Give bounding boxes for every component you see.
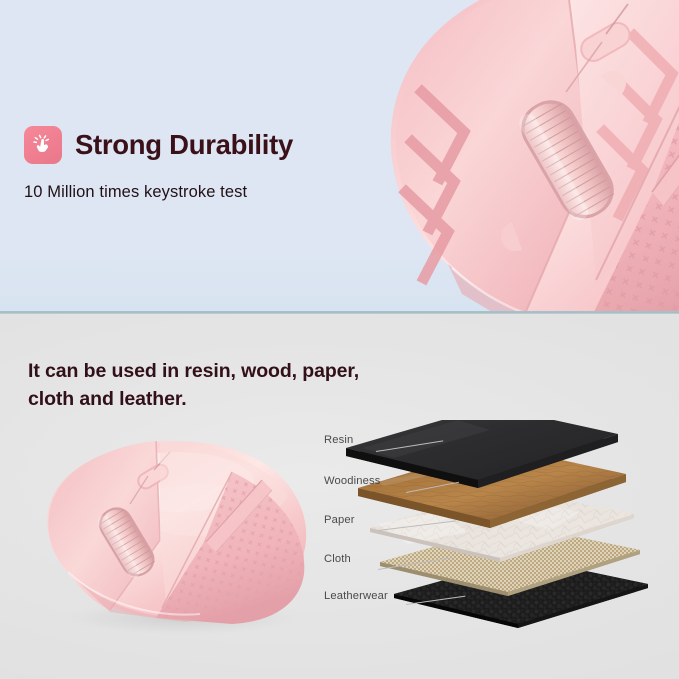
leader-line-paper (378, 520, 456, 530)
durability-subtitle: 10 Million times keystroke test (24, 183, 293, 202)
materials-headline: It can be used in resin, wood, paper, cl… (28, 358, 359, 413)
click-hand-icon (24, 126, 62, 164)
durability-heading-block: Strong Durability 10 Million times keyst… (24, 126, 293, 202)
page-title: Strong Durability (75, 131, 293, 159)
product-feature-image: Strong Durability 10 Million times keyst… (0, 0, 679, 679)
leader-line-woodiness (406, 482, 459, 493)
material-label-resin: Resin (324, 434, 353, 446)
leader-line-resin (376, 440, 443, 452)
material-label-paper: Paper (324, 514, 355, 526)
durability-panel: Strong Durability 10 Million times keyst… (0, 0, 679, 311)
materials-headline-line2: cloth and leather. (28, 386, 359, 414)
leader-line-leatherwear (406, 596, 466, 605)
material-label-leatherwear: Leatherwear (324, 590, 388, 602)
material-label-cloth: Cloth (324, 553, 351, 565)
leader-line-cloth (378, 557, 451, 570)
mouse-hero-image (352, 0, 679, 311)
materials-headline-line1: It can be used in resin, wood, paper, (28, 358, 359, 386)
mouse-angled-image (36, 432, 324, 638)
material-label-group: Resin Woodiness Paper Cloth Leatherwear (318, 420, 668, 640)
material-label-woodiness: Woodiness (324, 475, 381, 487)
material-stack: Resin Woodiness Paper Cloth Leatherwear (318, 420, 668, 640)
